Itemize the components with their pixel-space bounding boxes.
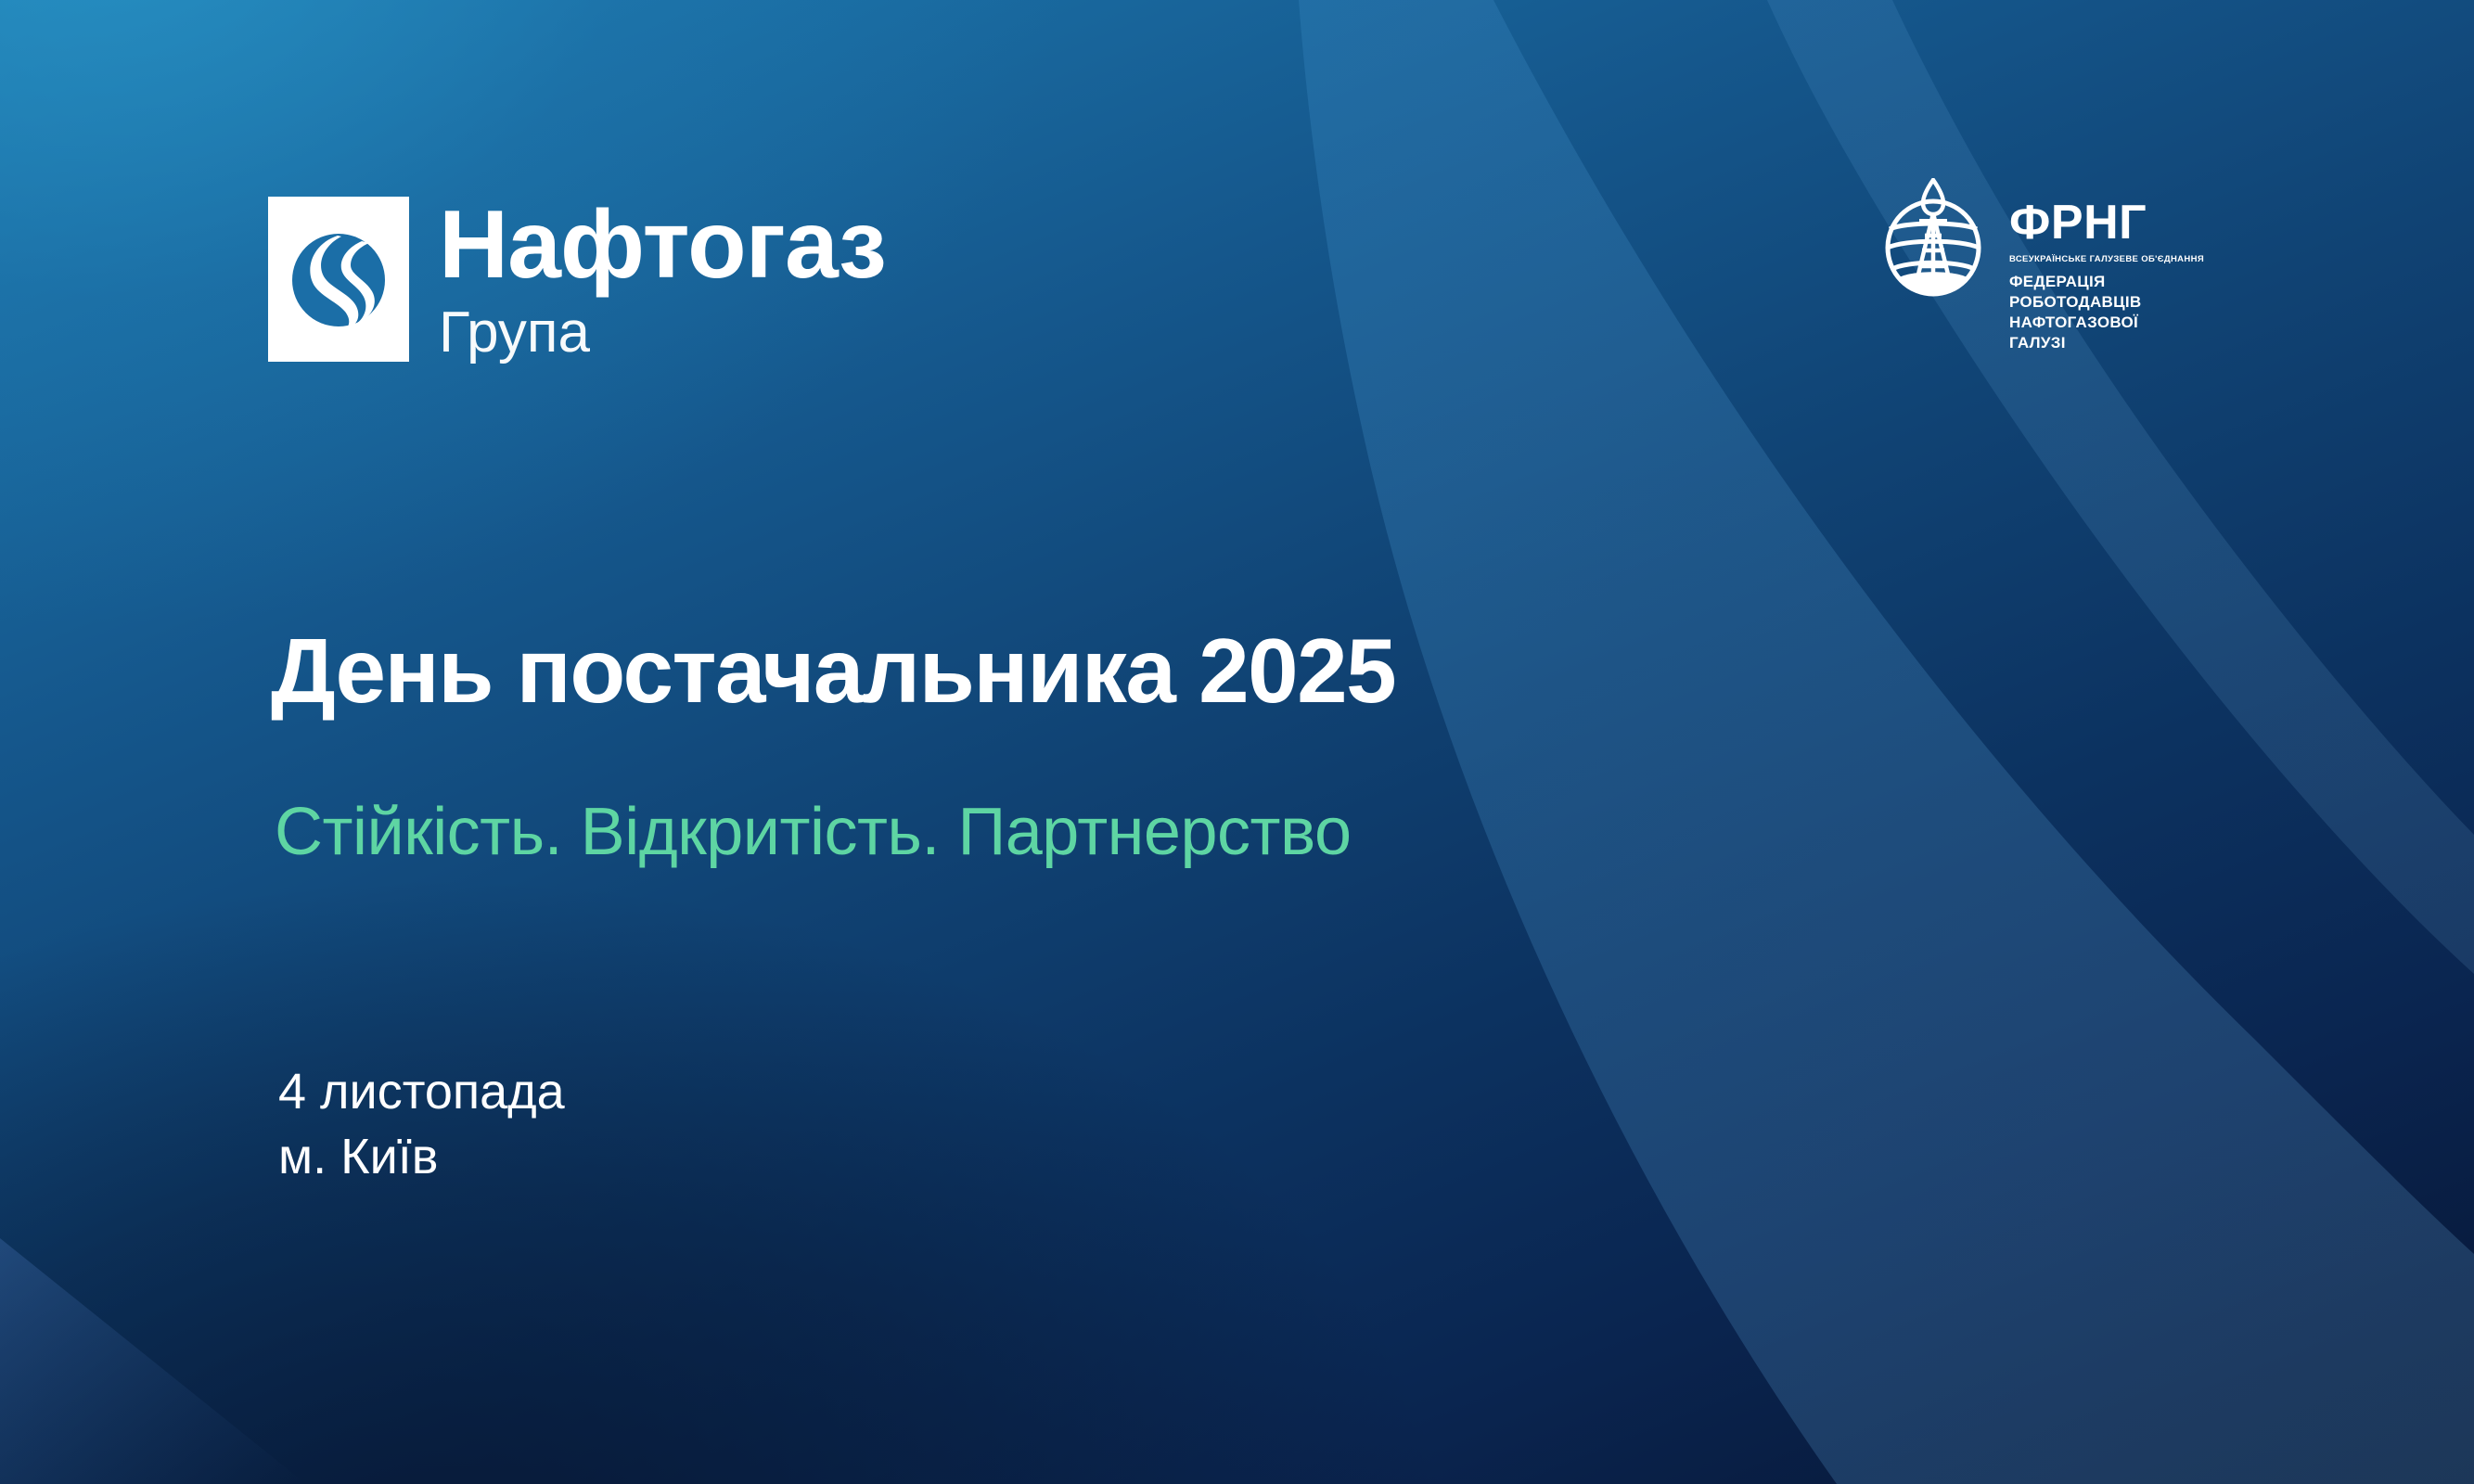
frng-full-name-line-1: ФЕДЕРАЦІЯ	[2009, 272, 2204, 292]
event-location: м. Київ	[278, 1124, 565, 1189]
frng-full-name: ФЕДЕРАЦІЯ РОБОТОДАВЦІВ НАФТОГАЗОВОЇ ГАЛУ…	[2009, 272, 2204, 353]
naftogaz-wordmark: Нафтогаз Група	[439, 197, 886, 362]
naftogaz-swirl-icon	[268, 197, 409, 362]
slide-subtitle: Стійкість. Відкритість. Партнерство	[275, 796, 1351, 869]
frng-tagline: ВСЕУКРАЇНСЬКЕ ГАЛУЗЕВЕ ОБ'ЄДНАННЯ	[2009, 255, 2204, 264]
event-date: 4 листопада	[278, 1059, 565, 1124]
frng-full-name-line-3: НАФТОГАЗОВОЇ	[2009, 313, 2204, 333]
frng-logo: ФРНГ ВСЕУКРАЇНСЬКЕ ГАЛУЗЕВЕ ОБ'ЄДНАННЯ Ф…	[1876, 178, 2204, 353]
globe-derrick-flame-icon	[1876, 178, 1991, 299]
naftogaz-name: Нафтогаз	[439, 197, 886, 293]
frng-wordmark: ФРНГ ВСЕУКРАЇНСЬКЕ ГАЛУЗЕВЕ ОБ'ЄДНАННЯ Ф…	[2009, 178, 2204, 353]
presentation-slide: Нафтогаз Група	[0, 0, 2474, 1484]
event-details: 4 листопада м. Київ	[278, 1059, 565, 1189]
slide-title: День постачальника 2025	[271, 623, 1395, 720]
frng-full-name-line-2: РОБОТОДАВЦІВ	[2009, 292, 2204, 313]
frng-abbr: ФРНГ	[2009, 200, 2204, 246]
naftogaz-sub: Група	[439, 304, 886, 362]
frng-full-name-line-4: ГАЛУЗІ	[2009, 333, 2204, 353]
naftogaz-logo: Нафтогаз Група	[268, 197, 886, 362]
